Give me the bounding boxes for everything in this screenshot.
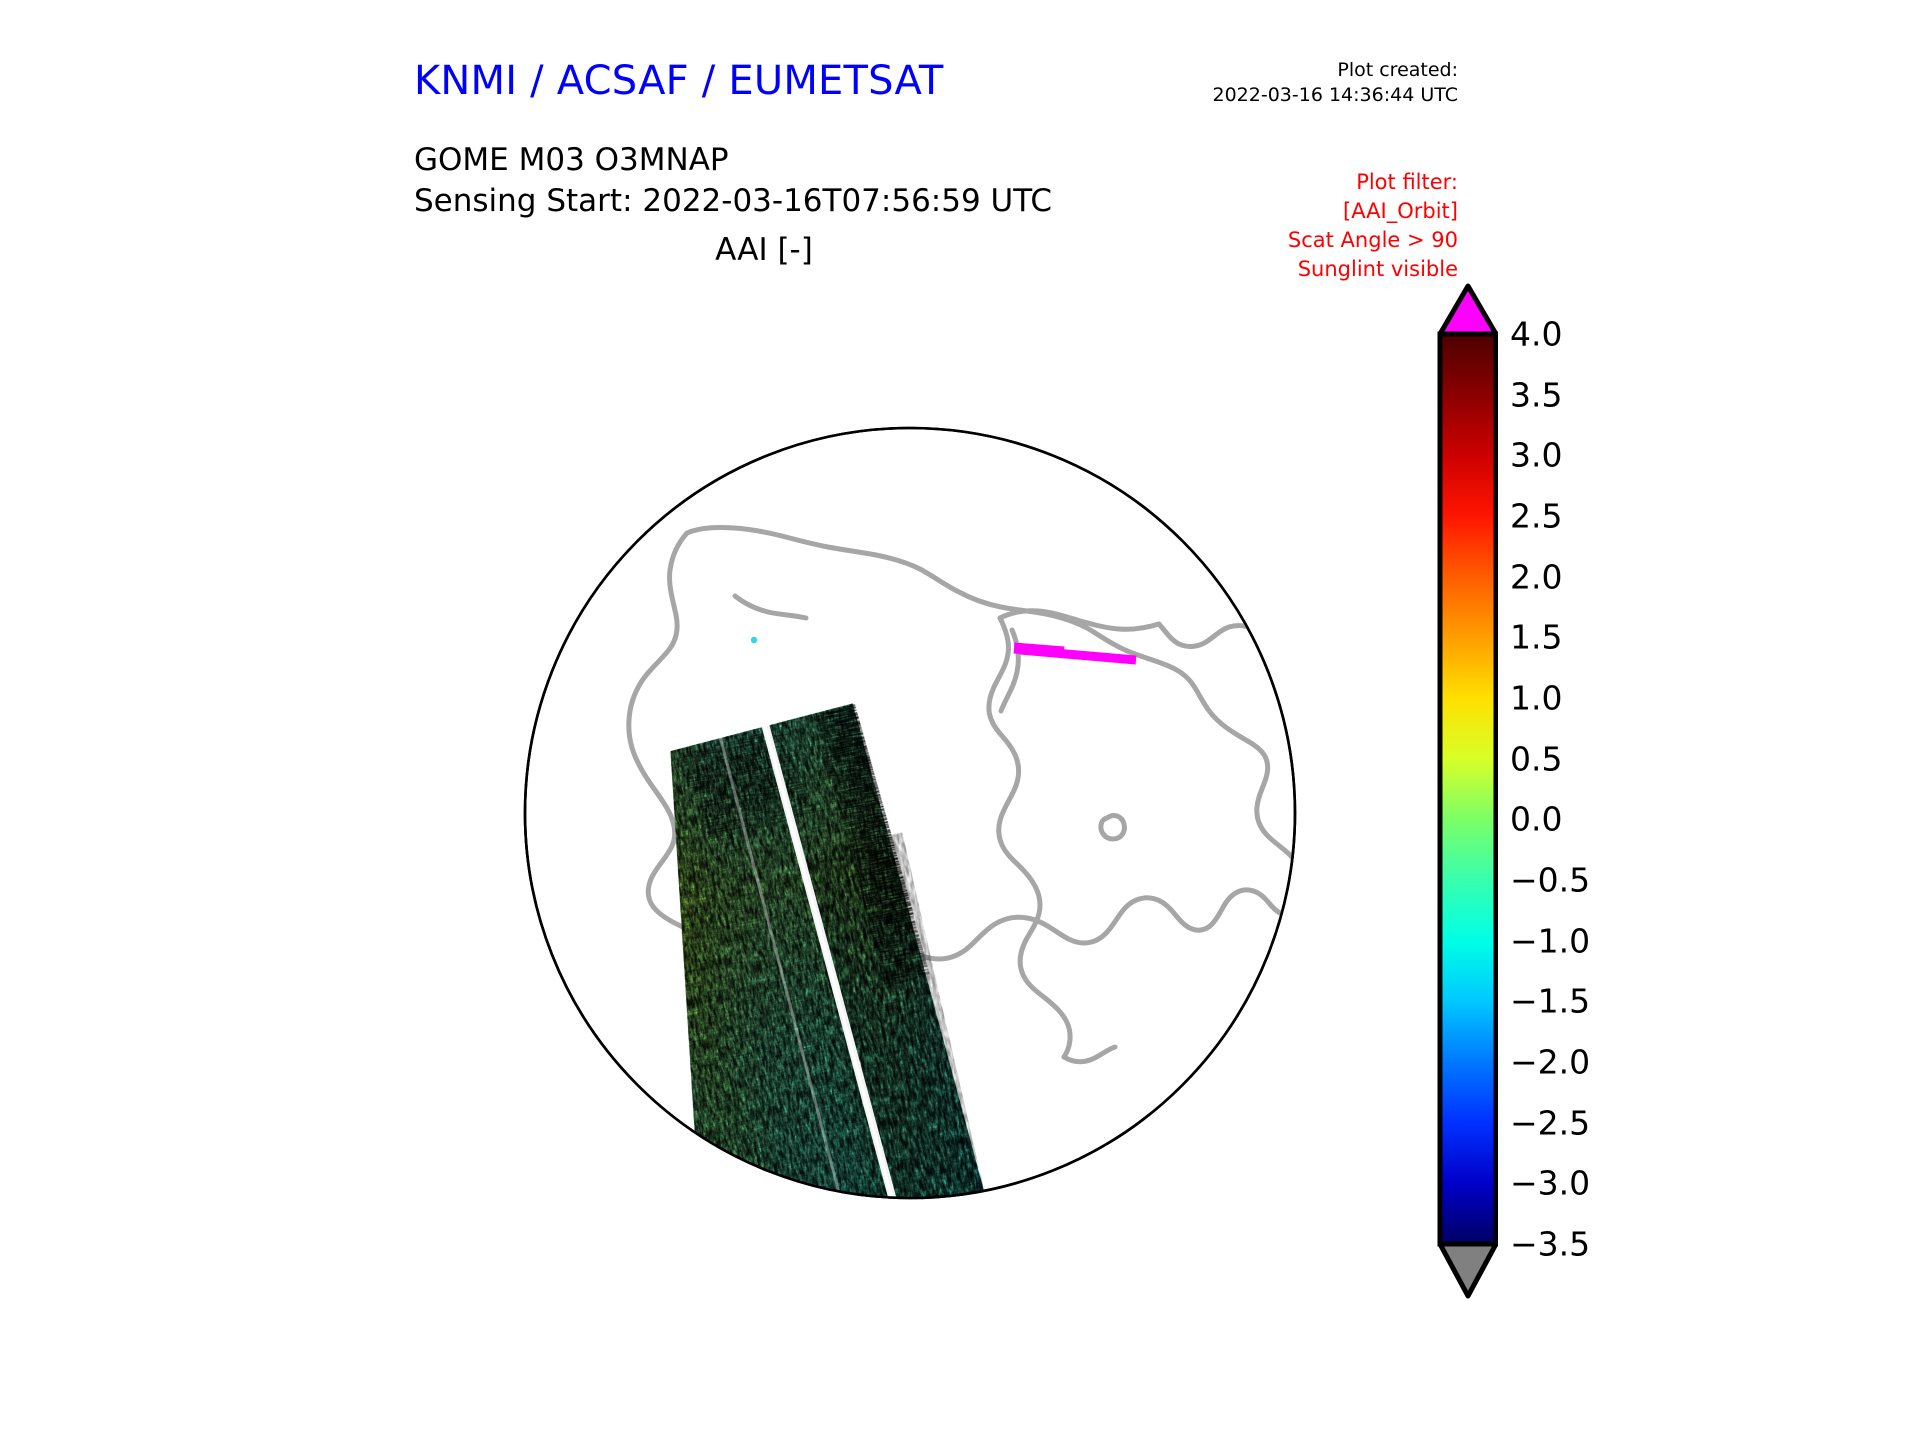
colorbar-tick-label: 1.5 bbox=[1510, 621, 1562, 654]
dataset-block: GOME M03 O3MNAP Sensing Start: 2022-03-1… bbox=[414, 140, 1052, 222]
polar-map bbox=[400, 278, 1420, 1338]
organisation-title: KNMI / ACSAF / EUMETSAT bbox=[414, 58, 944, 104]
plot-created-label: Plot created: bbox=[1213, 58, 1459, 83]
colorbar-tick-label: −2.0 bbox=[1510, 1046, 1590, 1079]
colorbar-tick-label: 0.0 bbox=[1510, 803, 1562, 836]
colorbar-under-arrow bbox=[1440, 1244, 1496, 1296]
interior-pixel bbox=[751, 637, 757, 643]
colorbar-tick-label: 4.0 bbox=[1510, 318, 1562, 351]
colorbar-tick-label: 0.5 bbox=[1510, 742, 1562, 775]
plot-filter-line-1: [AAI_Orbit] bbox=[1288, 197, 1458, 226]
colorbar-tick-label: 2.5 bbox=[1510, 500, 1562, 533]
plot-created-block: Plot created: 2022-03-16 14:36:44 UTC bbox=[1213, 58, 1459, 108]
sensing-start: Sensing Start: 2022-03-16T07:56:59 UTC bbox=[414, 181, 1052, 222]
colorbar-tick-label: −1.5 bbox=[1510, 985, 1590, 1018]
variable-title: AAI [-] bbox=[414, 232, 1114, 268]
colorbar-tick-labels: 4.0 3.5 3.0 2.5 2.0 1.5 1.0 0.5 0.0 −0.5… bbox=[1510, 282, 1660, 1302]
colorbar-tick-label: 3.0 bbox=[1510, 439, 1562, 472]
colorbar-tick-label: −0.5 bbox=[1510, 864, 1590, 897]
plot-filter-block: Plot filter: [AAI_Orbit] Scat Angle > 90… bbox=[1288, 168, 1458, 284]
plot-filter-title: Plot filter: bbox=[1288, 168, 1458, 197]
colorbar-tick-label: −3.0 bbox=[1510, 1167, 1590, 1200]
dataset-name: GOME M03 O3MNAP bbox=[414, 140, 1052, 181]
colorbar-tick-label: −1.0 bbox=[1510, 924, 1590, 957]
plot-page: KNMI / ACSAF / EUMETSAT Plot created: 20… bbox=[0, 0, 1920, 1440]
colorbar-tick-label: 2.0 bbox=[1510, 560, 1562, 593]
colorbar-tick-label: 1.0 bbox=[1510, 682, 1562, 715]
map-panel bbox=[400, 278, 1420, 1338]
colorbar-tick-label: −3.5 bbox=[1510, 1228, 1590, 1261]
plot-created-value: 2022-03-16 14:36:44 UTC bbox=[1213, 83, 1459, 108]
colorbar-tick-label: 3.5 bbox=[1510, 378, 1562, 411]
colorbar-svg[interactable] bbox=[1434, 282, 1498, 1302]
plot-filter-line-2: Scat Angle > 90 bbox=[1288, 226, 1458, 255]
colorbar-gradient bbox=[1440, 334, 1496, 1244]
colorbar-tick-label: −2.5 bbox=[1510, 1106, 1590, 1139]
colorbar-over-arrow bbox=[1440, 286, 1496, 334]
colorbar[interactable] bbox=[1434, 282, 1498, 1302]
